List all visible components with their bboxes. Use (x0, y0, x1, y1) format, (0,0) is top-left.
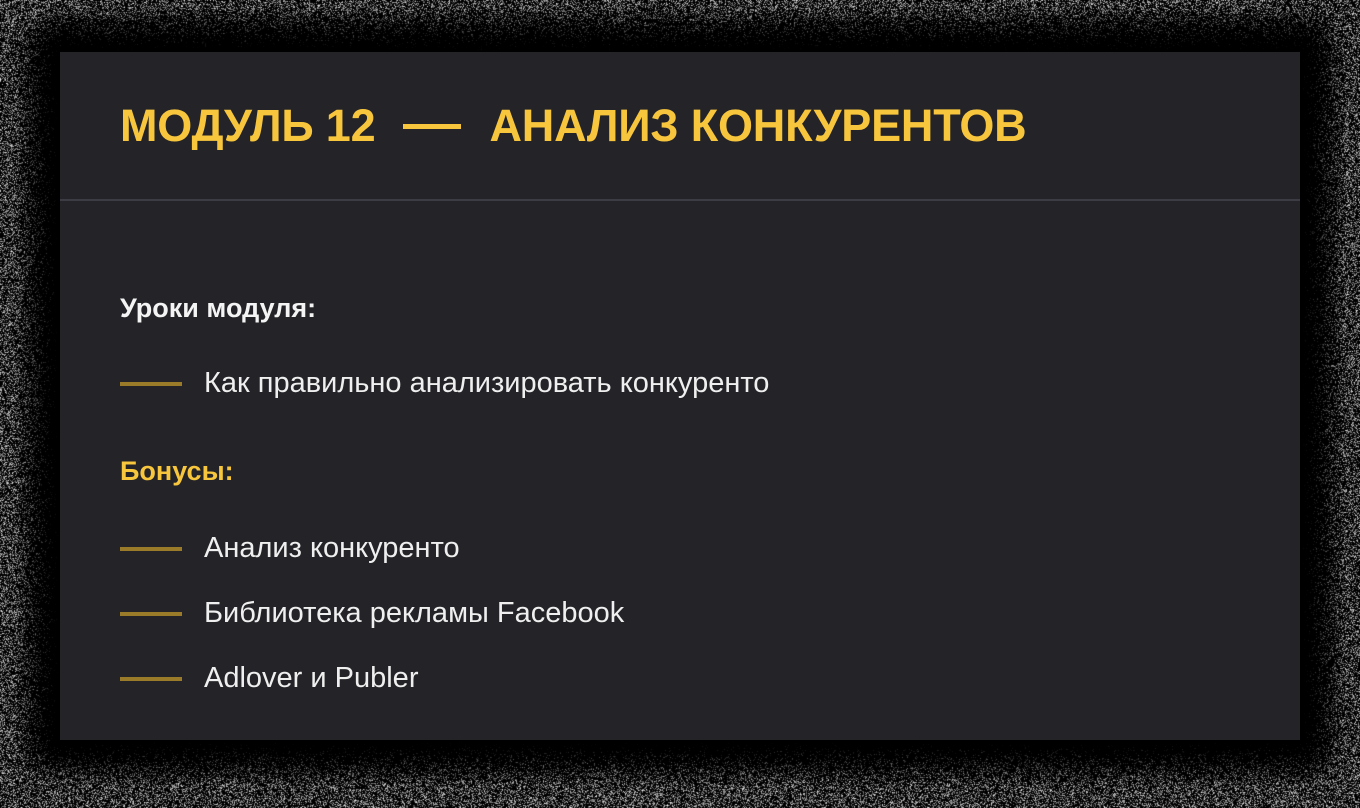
dash-marker-icon (120, 382, 182, 386)
module-title-label: АНАЛИЗ КОНКУРЕНТОВ (489, 103, 1026, 148)
module-title-row: МОДУЛЬ 12 АНАЛИЗ КОНКУРЕНТОВ (120, 52, 1026, 199)
list-item[interactable]: Adlover и Publer (120, 664, 418, 693)
dash-marker-icon (120, 612, 182, 616)
card-header: МОДУЛЬ 12 АНАЛИЗ КОНКУРЕНТОВ (60, 52, 1300, 199)
list-item-label: Adlover и Publer (204, 664, 418, 693)
dash-marker-icon (120, 547, 182, 551)
em-dash-icon (403, 124, 461, 129)
list-item-label: Библиотека рекламы Facebook (204, 599, 624, 628)
dash-marker-icon (120, 677, 182, 681)
module-number-label: МОДУЛЬ 12 (120, 103, 375, 148)
list-item-label: Как правильно анализировать конкуренто (204, 369, 769, 398)
header-divider (60, 199, 1300, 201)
section-heading-bonuses: Бонусы: (120, 458, 234, 485)
section-heading-lessons: Уроки модуля: (120, 295, 316, 322)
list-item[interactable]: Библиотека рекламы Facebook (120, 599, 624, 628)
list-item-label: Анализ конкуренто (204, 534, 460, 563)
list-item[interactable]: Как правильно анализировать конкуренто (120, 369, 769, 398)
list-item[interactable]: Анализ конкуренто (120, 534, 460, 563)
slide-canvas: МОДУЛЬ 12 АНАЛИЗ КОНКУРЕНТОВ Уроки модул… (0, 0, 1360, 808)
module-card: МОДУЛЬ 12 АНАЛИЗ КОНКУРЕНТОВ Уроки модул… (60, 52, 1300, 740)
